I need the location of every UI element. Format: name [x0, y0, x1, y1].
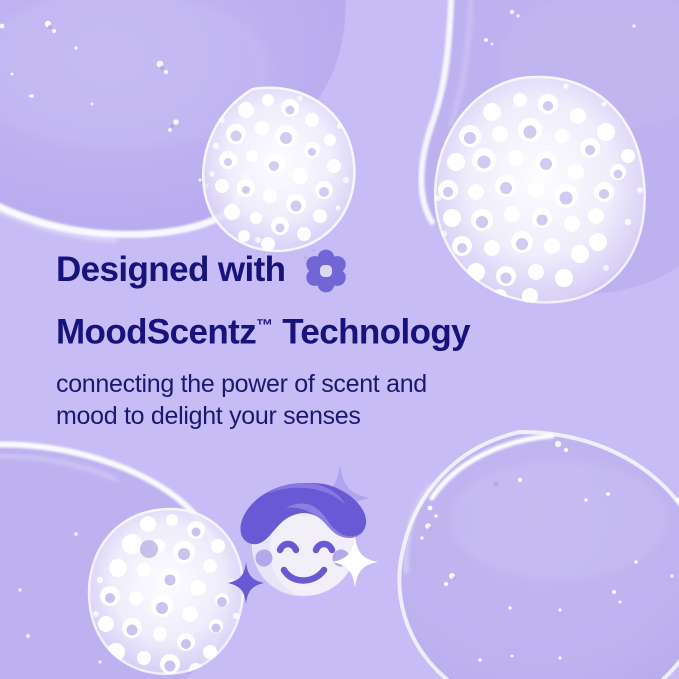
spa-face-icon-svg — [228, 462, 388, 617]
flower-center — [320, 265, 332, 277]
flower-icon — [299, 244, 351, 296]
headline-line-2: MoodScentz™ Technology — [56, 304, 526, 355]
marketing-image-canvas: Designed with — [0, 0, 679, 679]
subcopy-line-2: mood to delight your senses — [56, 400, 416, 432]
spa-face-icon — [228, 462, 388, 617]
copy-block: Designed with — [56, 247, 526, 432]
headline-tail: Technology — [273, 313, 470, 352]
headline-line-1: Designed with — [56, 250, 285, 290]
trademark-symbol: ™ — [256, 316, 273, 335]
subcopy: connecting the power of scent and mood t… — [56, 368, 416, 432]
brand-name: MoodScentz — [56, 313, 256, 352]
flower-icon-svg — [299, 244, 351, 296]
headline-row-1: Designed with — [56, 247, 526, 293]
subcopy-line-1: connecting the power of scent and — [56, 368, 416, 400]
